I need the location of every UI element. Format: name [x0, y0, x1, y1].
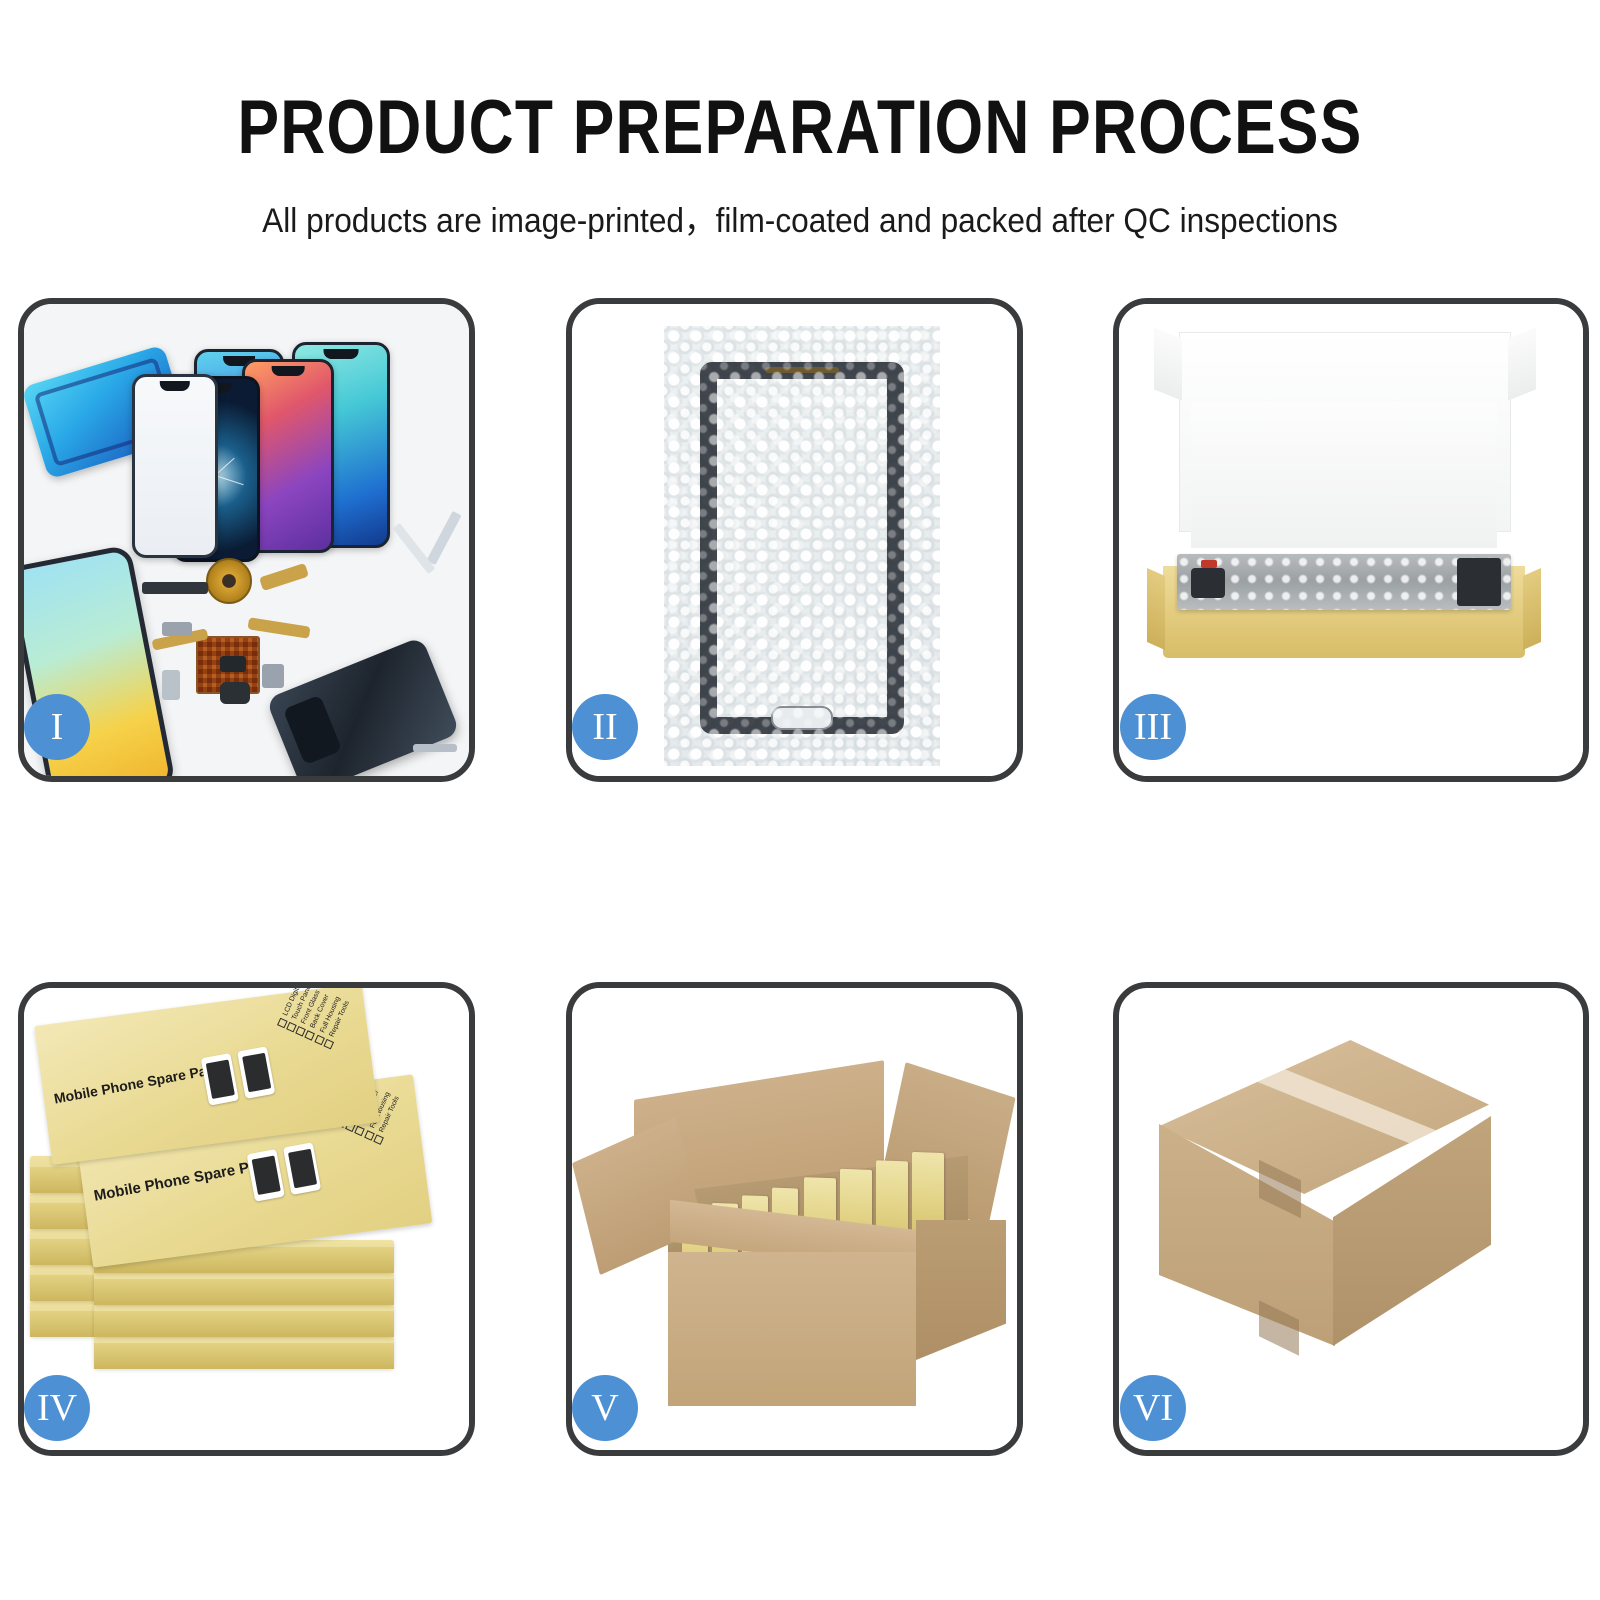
phone-back-housing — [266, 636, 461, 776]
step-panel-5 — [566, 982, 1023, 1456]
flex-cable-right — [259, 563, 309, 591]
phone-front-glass — [132, 374, 218, 558]
bubble-wrap-sheet — [664, 326, 940, 766]
step-badge-3: III — [1120, 694, 1186, 760]
carton-filling-scene — [572, 988, 1017, 1450]
wrapped-screen-in-box — [1177, 554, 1511, 610]
step-3-image — [1119, 304, 1583, 776]
step-panel-4: Mobile Phone Spare Parts LCD Digitizer T… — [18, 982, 475, 1456]
home-button-cutout — [771, 706, 833, 730]
step-6-image — [1119, 988, 1583, 1450]
earpiece-speaker — [142, 582, 208, 594]
step-panel-3 — [1113, 298, 1589, 782]
retail-box-brand-back: Mobile Phone Spare Parts — [53, 1059, 226, 1106]
retail-box-thumbnails-front — [247, 1142, 322, 1201]
screw-set — [413, 744, 457, 752]
retail-box-checklist-back: LCD Digitizer Touch Panel Front Glass Ba… — [276, 988, 353, 1050]
mailer-box-foam — [1191, 402, 1497, 548]
gold-box-slab — [94, 1304, 394, 1336]
product-preparation-infographic: PRODUCT PREPARATION PROCESS All products… — [0, 0, 1600, 1600]
carton-body-right — [916, 1220, 1006, 1360]
gold-box-slab — [94, 1336, 394, 1368]
retail-box-thumbnails-back — [201, 1046, 276, 1105]
step-badge-2: II — [572, 694, 638, 760]
step-panel-6 — [1113, 982, 1589, 1456]
carton-body-front — [668, 1252, 916, 1406]
steps-grid: I II — [0, 0, 1600, 1600]
step-badge-4: IV — [24, 1375, 90, 1441]
step-panel-1 — [18, 298, 475, 782]
step-panel-2 — [566, 298, 1023, 782]
step-badge-5: V — [572, 1375, 638, 1441]
camera-module — [220, 656, 246, 672]
step-badge-6: VI — [1120, 1375, 1186, 1441]
screen-connector-right — [1457, 558, 1501, 606]
sim-tray — [162, 670, 180, 700]
wrapped-screen-frame — [700, 362, 904, 734]
step-badge-1: I — [24, 694, 90, 760]
bubble-wrap-scene — [572, 304, 1017, 776]
gold-box-stack: Mobile Phone Spare Parts LCD Digitizer T… — [24, 988, 469, 1450]
step-2-image — [572, 304, 1017, 776]
vibration-motor — [220, 682, 250, 704]
tweezers-tool — [393, 523, 436, 574]
screwdriver-tool — [426, 511, 461, 565]
retail-box-stack-scene: Mobile Phone Spare Parts LCD Digitizer T… — [24, 988, 469, 1450]
charging-port — [262, 664, 284, 688]
battery-connector — [162, 622, 192, 636]
parts-collage-scene — [24, 304, 469, 776]
screen-connector-left — [1191, 568, 1225, 598]
sealed-carton-scene — [1119, 988, 1583, 1450]
red-tab — [1201, 560, 1217, 568]
step-1-image — [24, 304, 469, 776]
wireless-charging-coil — [206, 558, 252, 604]
step-4-image: Mobile Phone Spare Parts LCD Digitizer T… — [24, 988, 469, 1450]
gold-box-slab — [94, 1272, 394, 1304]
mailer-box-scene — [1119, 304, 1583, 776]
step-5-image — [572, 988, 1017, 1450]
